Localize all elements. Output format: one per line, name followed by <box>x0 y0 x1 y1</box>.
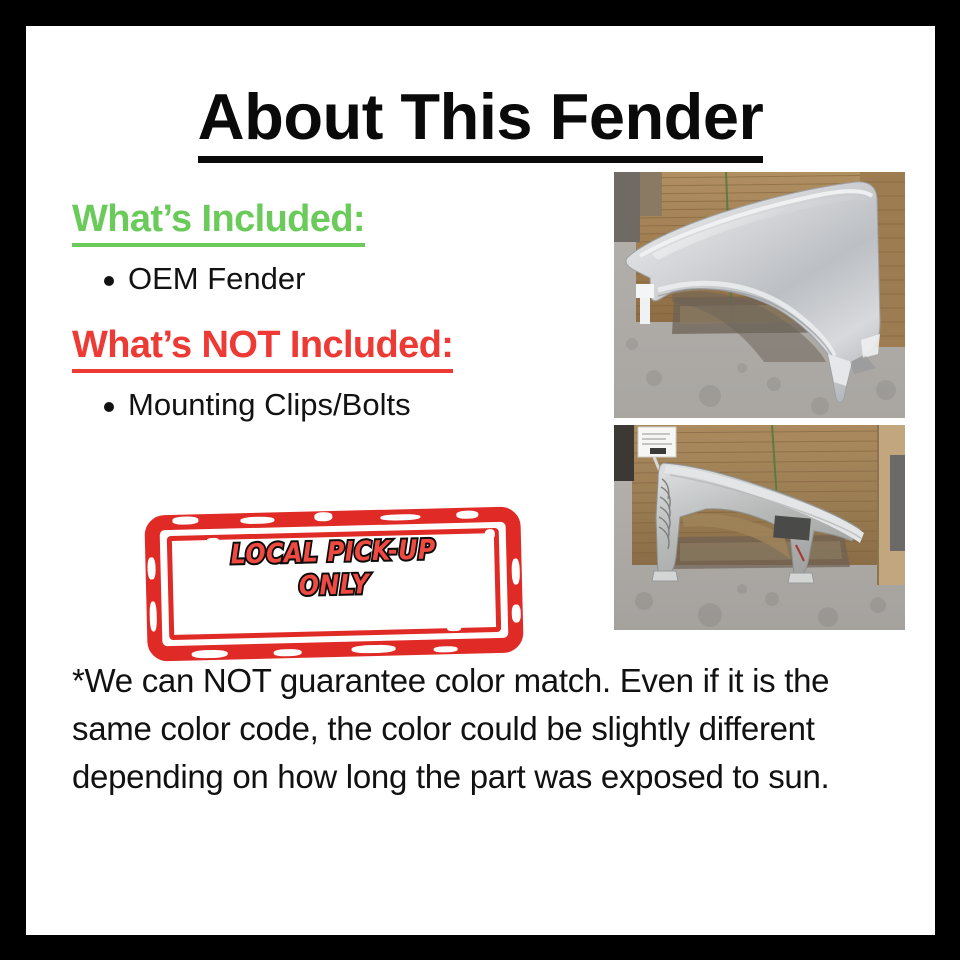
color-match-disclaimer: *We can NOT guarantee color match. Even … <box>72 657 902 802</box>
local-pickup-stamp: LOCAL PICK-UP ONLY <box>144 506 523 661</box>
included-section: What’s Included: OEM Fender <box>72 200 592 299</box>
included-list: OEM Fender <box>72 260 592 299</box>
fender-interior-photo-graphic <box>614 425 905 630</box>
stamp-distress-fleck <box>172 516 198 525</box>
stamp-distress-fleck <box>456 510 478 519</box>
poster-root: About This Fender What’s Included: OEM F… <box>0 0 960 960</box>
list-item: OEM Fender <box>72 260 592 299</box>
section-spacer <box>72 299 592 326</box>
fender-interior-photo <box>614 425 905 630</box>
poster-card: About This Fender What’s Included: OEM F… <box>26 26 935 935</box>
not-included-list: Mounting Clips/Bolts <box>72 386 592 425</box>
list-item: Mounting Clips/Bolts <box>72 386 592 425</box>
page-title-text: About This Fender <box>198 84 764 163</box>
stamp-distress-fleck <box>512 604 521 622</box>
stamp-text: LOCAL PICK-UP ONLY <box>167 533 499 607</box>
page-title: About This Fender <box>26 84 935 163</box>
stamp-distress-fleck <box>314 512 332 521</box>
stamp-distress-fleck <box>149 601 157 631</box>
stamp-distress-fleck <box>147 557 156 579</box>
fender-exterior-photo <box>614 172 905 418</box>
included-heading: What’s Included: <box>72 200 365 247</box>
stamp-distress-fleck <box>447 626 461 631</box>
not-included-heading: What’s NOT Included: <box>72 326 453 373</box>
details-column: What’s Included: OEM Fender What’s NOT I… <box>72 200 592 424</box>
fender-exterior-photo-graphic <box>614 172 905 418</box>
stamp-distress-fleck <box>511 558 520 584</box>
not-included-section: What’s NOT Included: Mounting Clips/Bolt… <box>72 326 592 425</box>
